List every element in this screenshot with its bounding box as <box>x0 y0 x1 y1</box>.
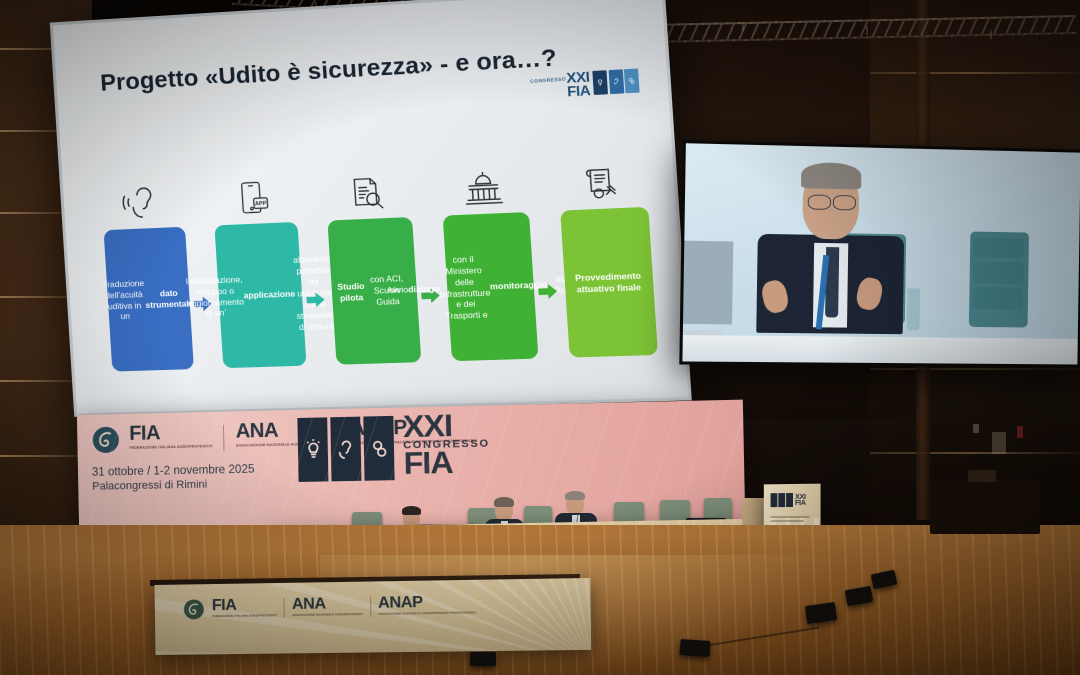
divider <box>284 598 285 618</box>
fire-extinguisher-sign <box>1017 426 1023 438</box>
backdrop-dates: 31 ottobre / 1-2 novembre 2025 <box>92 464 255 479</box>
svg-text:APP: APP <box>255 201 267 208</box>
front-ana-name: ANA <box>292 596 363 612</box>
backdrop-fia-sub: FEDERAZIONE ITALIANA AUDIOPROTESISTI <box>129 444 212 450</box>
front-anap-name: ANAP <box>378 594 476 611</box>
slide-title: Progetto «Udito è sicurezza» - e ora…? <box>100 43 590 97</box>
lightbulb-icon <box>771 493 778 507</box>
floor-monitor-speaker <box>679 639 710 657</box>
flow-step-4: Avvio dialogo con il Ministero delle Inf… <box>435 153 542 362</box>
flow-step-5: Provvedimento attuativo finale <box>552 147 661 358</box>
ear-icon <box>778 493 785 507</box>
led-video-wall <box>679 140 1080 367</box>
document-magnifier-icon <box>344 159 389 214</box>
backdrop-xxi: XXI <box>403 412 490 441</box>
flow-step-2-box: Individuazione, sviluppo o aggiornamento… <box>214 222 306 368</box>
flow-step-4-box: Avvio dialogo con il Ministero delle Inf… <box>442 212 538 361</box>
truss-rod <box>866 26 868 35</box>
fia-spiral-logo <box>91 425 121 455</box>
flow-step-3: Studio pilota con ACI, Scuole Guida <box>320 158 425 365</box>
backdrop-anap-name: ANAP <box>350 417 477 439</box>
lightbulb-icon <box>297 417 328 482</box>
divider <box>370 597 371 617</box>
front-fia-name: FIA <box>212 597 277 613</box>
projection-screen: Progetto «Udito è sicurezza» - e ora…? C… <box>50 0 692 417</box>
podium-fia: FIA <box>795 500 806 506</box>
flow-arrow-4 <box>537 282 562 300</box>
front-ana-sub: ASSOCIAZIONE NAZIONALE AUDIOPROTESISTI <box>292 613 363 618</box>
backdrop-ana-sub: ASSOCIAZIONE NAZIONALE AUDIOPROTESISTI <box>236 442 327 448</box>
flow-step-2: APP Individuazione, sviluppo o aggiornam… <box>207 164 310 369</box>
truss-rod <box>742 22 744 31</box>
smartphone-app-icon: APP <box>234 165 272 219</box>
backdrop-congresso: CONGRESSO <box>403 439 490 450</box>
front-anap-sub: ASSOCIAZIONE NAZIONALE AUDIOPROTESISTI P… <box>378 611 476 616</box>
backdrop-congress-title: XXI CONGRESSO FIA <box>403 412 491 478</box>
backdrop-icon-tiles <box>297 416 394 482</box>
lightbulb-icon <box>592 71 608 96</box>
stacked-papers <box>968 470 996 482</box>
slide-logo-congresso: CONGRESSO <box>530 77 566 84</box>
backdrop-anap-sub: ASSOCIAZIONE NAZIONALE AUDIOPROTESISTI P… <box>351 439 477 446</box>
ear-hearing-icon <box>118 170 165 224</box>
side-table-prop <box>930 480 1040 534</box>
backdrop-ana-name: ANA <box>235 420 326 441</box>
emergency-sign <box>973 424 979 433</box>
wall-notice <box>992 432 1006 454</box>
conference-hall-photo: Progetto «Udito è sicurezza» - e ora…? C… <box>0 0 1080 675</box>
flow-step-5-box: Provvedimento attuativo finale <box>560 207 658 358</box>
scroll-gavel-icon <box>578 148 625 204</box>
stage-front-panel: FIA FEDERAZIONE ITALIANA AUDIOPROTESISTI… <box>155 578 592 655</box>
front-fia-sub: FEDERAZIONE ITALIANA AUDIOPROTESISTI <box>212 614 277 619</box>
backdrop-fia-name: FIA <box>129 423 212 444</box>
chainlink-icon <box>624 69 640 94</box>
divider <box>223 425 225 451</box>
backdrop-fia-big: FIA <box>403 448 490 477</box>
chainlink-icon <box>363 416 394 481</box>
chainlink-icon <box>786 493 793 507</box>
slide-flow-diagram: Traduzione dell’acuità uditiva in un dat… <box>96 147 667 389</box>
flow-step-1-box: Traduzione dell’acuità uditiva in un dat… <box>103 227 193 372</box>
government-building-icon <box>459 154 507 210</box>
flow-arrow-2 <box>305 291 329 308</box>
flow-step-1: Traduzione dell’acuità uditiva in un dat… <box>96 169 197 372</box>
ear-icon <box>330 417 361 482</box>
divider <box>338 422 340 448</box>
backdrop-org-logos: FIA FEDERAZIONE ITALIANA AUDIOPROTESISTI… <box>91 417 477 455</box>
ear-icon <box>608 70 624 95</box>
fia-spiral-logo <box>183 598 205 620</box>
truss-rod <box>990 30 992 39</box>
slide-logo-fia: FIA <box>567 84 591 99</box>
floor-monitor-speaker <box>470 652 496 666</box>
front-panel-org-logos: FIA FEDERAZIONE ITALIANA AUDIOPROTESISTI… <box>183 594 476 621</box>
podium-logo: XXI FIA <box>771 493 806 507</box>
slide-congress-logo: CONGRESSO XXI FIA <box>566 67 640 98</box>
backdrop-location: Palacongressi di Rimini <box>92 479 207 493</box>
